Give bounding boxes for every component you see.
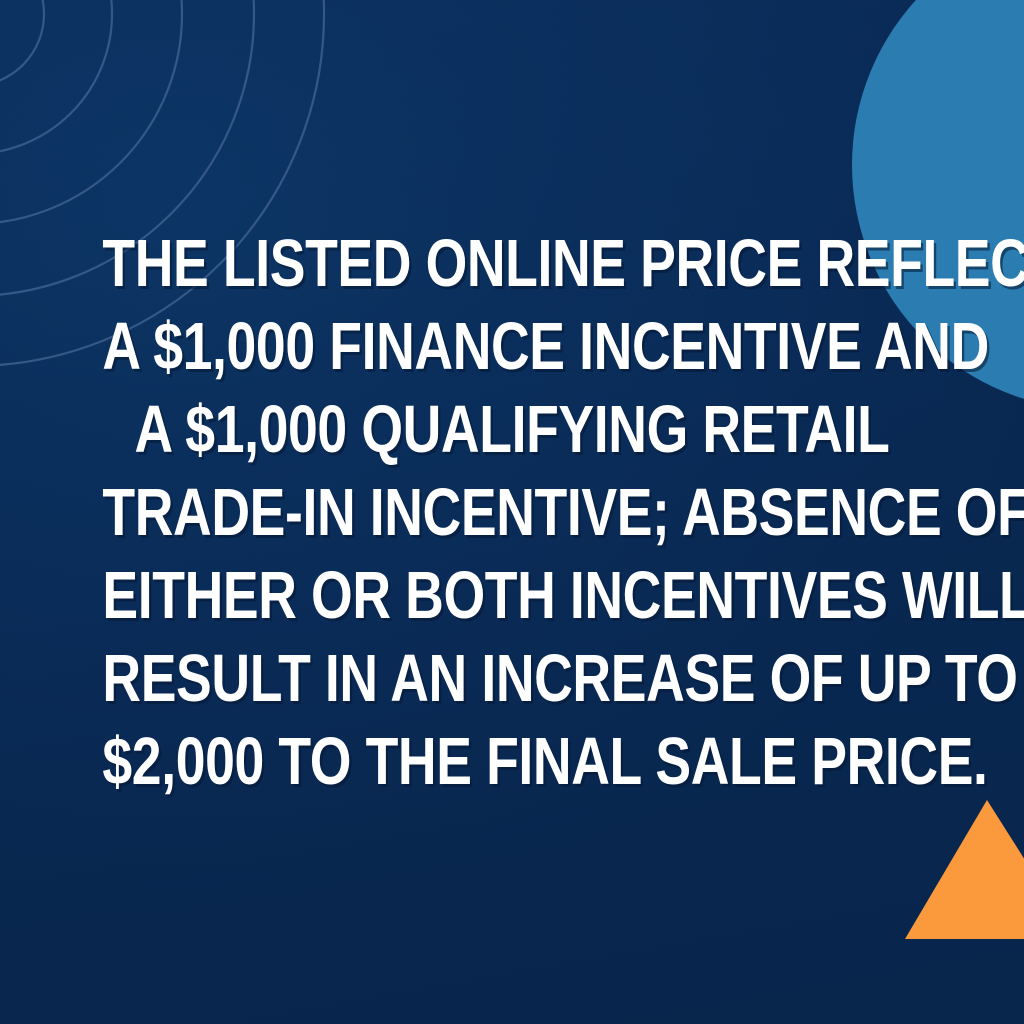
headline-line-1: THE LISTED ONLINE PRICE REFLECTS bbox=[102, 222, 921, 305]
headline-line-3: A $1,000 QUALIFYING RETAIL bbox=[102, 388, 921, 471]
disclaimer-graphic: THE LISTED ONLINE PRICE REFLECTS A $1,00… bbox=[0, 0, 1024, 1024]
headline-line-5: EITHER OR BOTH INCENTIVES WILL bbox=[102, 554, 921, 637]
headline-line-2: A $1,000 FINANCE INCENTIVE AND bbox=[102, 305, 921, 388]
headline-line-6: RESULT IN AN INCREASE OF UP TO bbox=[102, 637, 921, 720]
headline-line-7: $2,000 TO THE FINAL SALE PRICE. bbox=[102, 720, 921, 803]
disclaimer-headline: THE LISTED ONLINE PRICE REFLECTS A $1,00… bbox=[102, 222, 921, 803]
headline-line-4: TRADE-IN INCENTIVE; ABSENCE OF bbox=[102, 471, 921, 554]
